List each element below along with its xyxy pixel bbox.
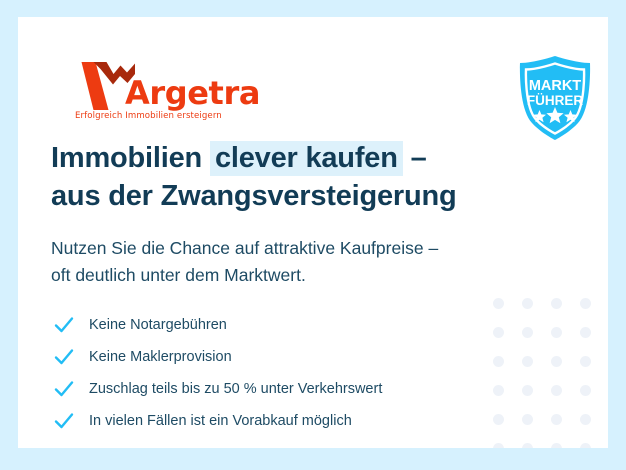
decor-dot xyxy=(551,298,562,309)
decor-dot xyxy=(580,327,591,338)
decor-dot xyxy=(551,356,562,367)
headline-line2: aus der Zwangsversteigerung xyxy=(51,180,457,212)
benefits-checklist: Keine Notargebühren Keine Maklerprovisio… xyxy=(52,309,522,437)
decor-dot xyxy=(551,385,562,396)
check-icon xyxy=(52,345,76,369)
promo-card: Argetra Erfolgreich Immobilien ersteiger… xyxy=(18,17,608,448)
decor-dot xyxy=(522,327,533,338)
list-item-label: Keine Notargebühren xyxy=(89,318,227,333)
decor-dot xyxy=(493,443,504,448)
headline-highlight: clever kaufen xyxy=(210,141,403,176)
decor-dot xyxy=(493,298,504,309)
subhead-line1: Nutzen Sie die Chance auf attraktive Kau… xyxy=(51,238,438,258)
decor-dot xyxy=(522,443,533,448)
headline-part1: Immobilien xyxy=(51,142,210,174)
list-item-label: Keine Maklerprovision xyxy=(89,350,232,365)
shield-badge: MARKT FÜHRER xyxy=(510,53,600,143)
check-icon xyxy=(52,409,76,433)
decor-dot xyxy=(580,414,591,425)
argetra-logo: Argetra Erfolgreich Immobilien ersteiger… xyxy=(73,61,273,123)
decor-dot xyxy=(551,414,562,425)
decor-dot xyxy=(551,443,562,448)
logo-tagline: Erfolgreich Immobilien ersteigern xyxy=(75,111,222,121)
decor-dot xyxy=(522,298,533,309)
decor-dot xyxy=(551,327,562,338)
list-item-label: Zuschlag teils bis zu 50 % unter Verkehr… xyxy=(89,382,382,397)
headline-part2: – xyxy=(403,142,427,174)
list-item-label: In vielen Fällen ist ein Vorabkauf mögli… xyxy=(89,414,352,429)
badge-line1: MARKT xyxy=(529,78,581,94)
list-item: In vielen Fällen ist ein Vorabkauf mögli… xyxy=(52,405,522,437)
decor-dot xyxy=(522,385,533,396)
check-icon xyxy=(52,377,76,401)
badge-line2: FÜHRER xyxy=(527,93,583,108)
check-icon xyxy=(52,313,76,337)
list-item: Keine Notargebühren xyxy=(52,309,522,341)
logo-wordmark: Argetra xyxy=(125,77,260,109)
list-item: Zuschlag teils bis zu 50 % unter Verkehr… xyxy=(52,373,522,405)
decor-dot xyxy=(522,414,533,425)
decor-dot xyxy=(580,356,591,367)
subhead-line2: oft deutlich unter dem Marktwert. xyxy=(51,265,306,285)
page-subtitle: Nutzen Sie die Chance auf attraktive Kau… xyxy=(51,235,551,289)
list-item: Keine Maklerprovision xyxy=(52,341,522,373)
decor-dot xyxy=(580,385,591,396)
decor-dot xyxy=(580,443,591,448)
decor-dot xyxy=(580,298,591,309)
decor-dot xyxy=(522,356,533,367)
page-title: Immobilien clever kaufen – aus der Zwang… xyxy=(51,139,531,216)
